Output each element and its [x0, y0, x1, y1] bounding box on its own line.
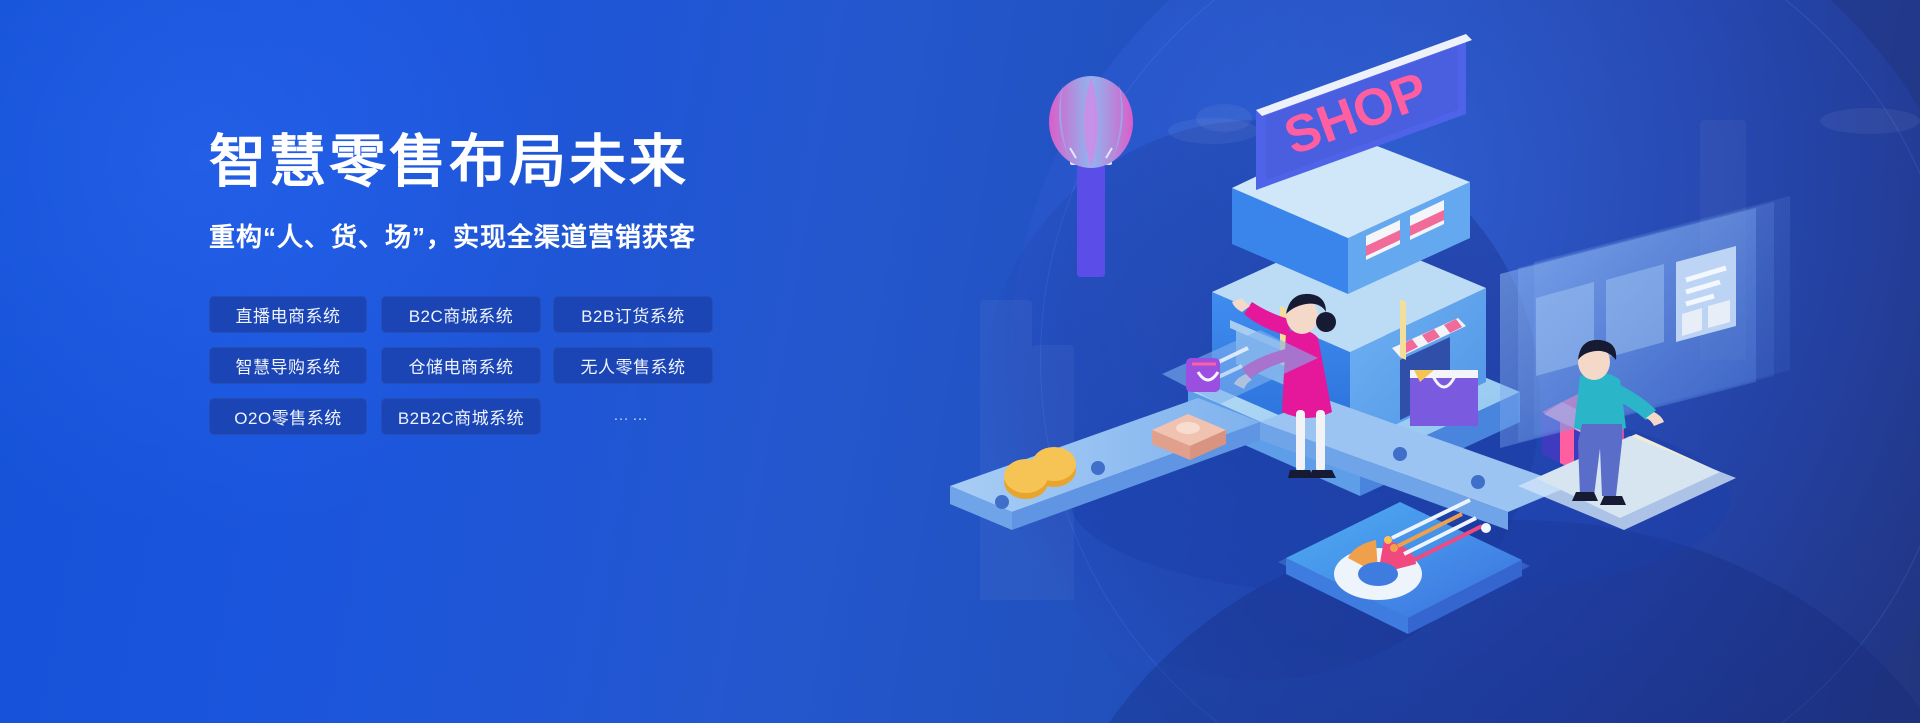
tag-smart-guide[interactable]: 智慧导购系统: [209, 347, 367, 384]
coin-front-top: [1004, 459, 1048, 493]
tag-b2b-ordering[interactable]: B2B订货系统: [553, 296, 713, 333]
legend-dot-2: [1390, 544, 1398, 552]
balloon-banner: [1077, 165, 1105, 277]
hot-air-balloon: [1049, 76, 1133, 277]
hero-text-block: 智慧零售布局未来 重构“人、货、场”，实现全渠道营销获客 直播电商系统 B2C商…: [209, 131, 829, 435]
page-subtitle: 重构“人、货、场”，实现全渠道营销获客: [209, 217, 829, 254]
page-title: 智慧零售布局未来: [209, 131, 829, 195]
floating-icon-tile: [1186, 358, 1220, 392]
tag-b2b2c-mall[interactable]: B2B2C商城系统: [381, 398, 541, 435]
belt-roller-4: [1471, 475, 1485, 489]
billboard-pillar-right: [1400, 299, 1406, 360]
man-with-screens: [1500, 196, 1790, 530]
man-shoe-left: [1572, 492, 1598, 501]
woman-hair-bun: [1316, 312, 1336, 332]
belt-roller-1: [995, 495, 1009, 509]
screen-card-2: [1606, 264, 1664, 358]
tag-o2o-retail[interactable]: O2O零售系统: [209, 398, 367, 435]
donut-hole: [1358, 562, 1398, 586]
tag-live-commerce[interactable]: 直播电商系统: [209, 296, 367, 333]
legend-pointer: [1481, 523, 1491, 533]
tag-unmanned-retail[interactable]: 无人零售系统: [553, 347, 713, 384]
retail-isometric-illustration: SHOP: [930, 30, 1920, 690]
shopping-bag: [1410, 370, 1478, 426]
legend-dot-3: [1396, 552, 1404, 560]
cash-seal: [1176, 422, 1200, 434]
tag-b2c-mall[interactable]: B2C商城系统: [381, 296, 541, 333]
product-tag-grid: 直播电商系统 B2C商城系统 B2B订货系统 智慧导购系统 仓储电商系统 无人零…: [209, 296, 829, 435]
woman-shoe-right: [1310, 470, 1336, 478]
tag-more-ellipsis: ……: [553, 398, 711, 435]
woman-leg-left: [1296, 410, 1305, 472]
woman-shoe-left: [1288, 470, 1314, 478]
tag-warehouse-commerce[interactable]: 仓储电商系统: [381, 347, 541, 384]
belt-roller-3: [1393, 447, 1407, 461]
retail-hero-banner: 智慧零售布局未来 重构“人、货、场”，实现全渠道营销获客 直播电商系统 B2C商…: [0, 0, 1920, 723]
man-shirt: [1574, 373, 1626, 433]
man-shoe-right: [1600, 496, 1626, 505]
legend-dot-1: [1384, 536, 1392, 544]
belt-roller-2: [1091, 461, 1105, 475]
woman-leg-right: [1316, 410, 1325, 472]
